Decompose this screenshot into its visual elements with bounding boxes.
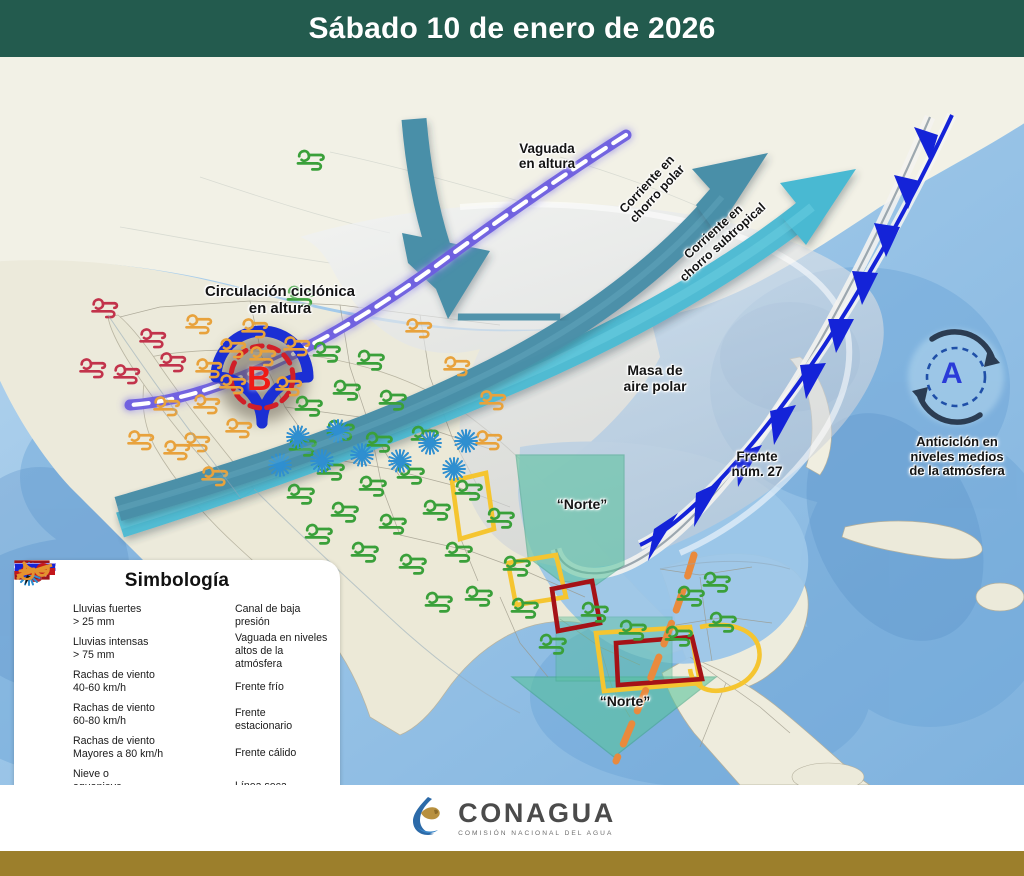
legend-label: Lluvias fuertes > 25 mm xyxy=(73,603,141,629)
red-rectangle-icon xyxy=(26,635,66,663)
page-title: Sábado 10 de enero de 2026 xyxy=(308,12,715,46)
legend-panel: Simbología Lluvias fuertes > 25 mm Lluvi… xyxy=(14,560,340,785)
legend-column-right: Canal de baja presión Vaguada en niveles… xyxy=(188,599,328,785)
chain-trough-icon xyxy=(188,637,228,665)
legend-item-snow: Nieve o aguanieve xyxy=(26,764,182,785)
legend-label: Rachas de viento Mayores a 80 km/h xyxy=(73,735,163,761)
legend-item-low-pressure-channel: Canal de baja presión xyxy=(188,599,328,632)
legend-label: Lluvias intensas > 75 mm xyxy=(73,636,148,662)
conagua-subtitle: COMISIÓN NACIONAL DEL AGUA xyxy=(458,830,616,837)
legend-item-upper-trough: Vaguada en niveles altos de la atmósfera xyxy=(188,632,328,671)
wind-swirl-orange-icon xyxy=(26,701,66,729)
legend-title: Simbología xyxy=(26,570,328,592)
warm-front-icon xyxy=(188,739,228,767)
wind-swirl-green-icon xyxy=(26,668,66,696)
conagua-logo-text: CONAGUA COMISIÓN NACIONAL DEL AGUA xyxy=(458,800,616,837)
label-anticyclone: Anticiclón en niveles medios de la atmós… xyxy=(892,435,1022,479)
high-pressure-letter: A xyxy=(941,357,963,391)
legend-label: Frente cálido xyxy=(235,747,296,760)
snowflake-icon xyxy=(26,767,66,786)
legend-item-heavy-rain: Lluvias fuertes > 25 mm xyxy=(26,599,182,632)
legend-column-left: Lluvias fuertes > 25 mm Lluvias intensas… xyxy=(26,599,182,785)
yellow-rectangle-icon xyxy=(26,602,66,630)
weather-map: Circulación ciclónica en altura Vaguada … xyxy=(0,57,1024,785)
page-header: Sábado 10 de enero de 2026 xyxy=(0,0,1024,57)
dashed-orange-line-icon xyxy=(188,602,228,630)
legend-label: Nieve o aguanieve xyxy=(73,768,122,785)
low-pressure-letter: B xyxy=(247,360,272,399)
legend-item-intense-rain: Lluvias intensas > 75 mm xyxy=(26,632,182,665)
legend-item-cold-front: Frente frío xyxy=(188,671,328,704)
legend-item-warm-front: Frente cálido xyxy=(188,737,328,770)
legend-item-wind-40-60: Rachas de viento 40-60 km/h xyxy=(26,665,182,698)
stationary-front-icon xyxy=(188,706,228,734)
footer-gold-bar xyxy=(0,851,1024,876)
legend-label: Vaguada en niveles altos de la atmósfera xyxy=(235,632,328,671)
label-cyclonic-circulation: Circulación ciclónica en altura xyxy=(180,284,380,318)
legend-label: Canal de baja presión xyxy=(235,603,300,629)
page-footer: CONAGUA COMISIÓN NACIONAL DEL AGUA xyxy=(0,785,1024,851)
wind-swirl-crimson-icon xyxy=(26,734,66,762)
label-norte-gulf: “Norte” xyxy=(537,497,627,513)
conagua-logo: CONAGUA COMISIÓN NACIONAL DEL AGUA xyxy=(408,794,616,843)
cold-front-icon xyxy=(188,673,228,701)
dry-line-icon xyxy=(188,772,228,785)
conagua-name: CONAGUA xyxy=(458,800,616,827)
legend-label: Frente estacionario xyxy=(235,707,292,733)
legend-item-stationary-front: Frente estacionario xyxy=(188,704,328,737)
legend-label: Frente frío xyxy=(235,681,284,694)
conagua-water-mark-icon xyxy=(408,794,448,843)
legend-label: Rachas de viento 60-80 km/h xyxy=(73,702,155,728)
label-norte-tehuantepec: “Norte” xyxy=(580,694,670,710)
label-polar-air-mass: Masa de aire polar xyxy=(600,363,710,394)
label-upper-trough: Vaguada en altura xyxy=(492,141,602,171)
polar-return-arrow xyxy=(458,315,560,319)
legend-item-wind-gt-80: Rachas de viento Mayores a 80 km/h xyxy=(26,731,182,764)
legend-item-wind-60-80: Rachas de viento 60-80 km/h xyxy=(26,698,182,731)
label-cold-front-number: Frente núm. 27 xyxy=(712,449,802,479)
legend-label: Rachas de viento 40-60 km/h xyxy=(73,669,155,695)
legend-item-dry-line: Línea seca xyxy=(188,770,328,785)
